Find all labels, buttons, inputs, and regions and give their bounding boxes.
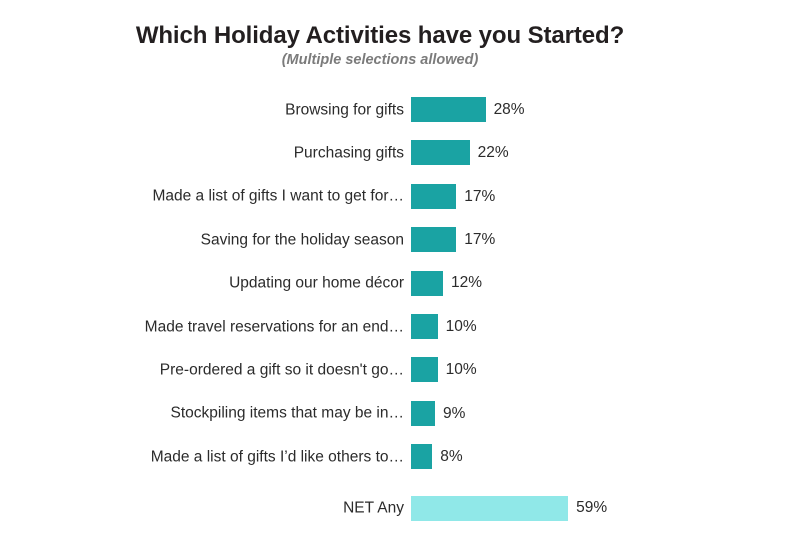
bar-value-label: 28% — [494, 102, 525, 118]
bar-value-label: 10% — [446, 319, 477, 335]
bar-track: 59% — [411, 496, 607, 521]
category-label: Made a list of gifts I’d like others to… — [151, 449, 404, 465]
bar-track: 17% — [411, 227, 495, 252]
bar-row: Stockpiling items that may be in…9% — [0, 401, 791, 426]
category-label: NET Any — [343, 500, 404, 516]
bar-track: 17% — [411, 184, 495, 209]
bar — [411, 314, 438, 339]
category-label: Purchasing gifts — [294, 145, 404, 161]
bar-row: Saving for the holiday season17% — [0, 227, 791, 252]
bar-value-label: 8% — [440, 449, 462, 465]
category-label: Made travel reservations for an end… — [145, 319, 404, 335]
bar-track: 28% — [411, 97, 525, 122]
bar-value-label: 10% — [446, 362, 477, 378]
category-label: Updating our home décor — [229, 275, 404, 291]
bar — [411, 184, 456, 209]
bar-track: 12% — [411, 271, 482, 296]
category-label: Stockpiling items that may be in… — [171, 406, 404, 422]
category-label: Browsing for gifts — [285, 102, 404, 118]
bar-value-label: 59% — [576, 500, 607, 516]
bar — [411, 496, 568, 521]
category-label: Saving for the holiday season — [201, 232, 404, 248]
bar-track: 22% — [411, 140, 509, 165]
bar-row: Updating our home décor12% — [0, 271, 791, 296]
chart-subtitle: (Multiple selections allowed) — [0, 52, 760, 68]
bar — [411, 271, 443, 296]
bar-value-label: 9% — [443, 406, 465, 422]
category-label: Pre-ordered a gift so it doesn't go… — [160, 362, 404, 378]
bar-row: Browsing for gifts28% — [0, 97, 791, 122]
bar — [411, 401, 435, 426]
bar — [411, 444, 432, 469]
bar-row: Made travel reservations for an end…10% — [0, 314, 791, 339]
bar — [411, 227, 456, 252]
bar — [411, 97, 486, 122]
bar-row: Pre-ordered a gift so it doesn't go…10% — [0, 357, 791, 382]
bar-value-label: 17% — [464, 232, 495, 248]
bar — [411, 357, 438, 382]
bar-track: 8% — [411, 444, 463, 469]
bar-value-label: 12% — [451, 275, 482, 291]
category-label: Made a list of gifts I want to get for… — [152, 189, 404, 205]
bar-chart: Which Holiday Activities have you Starte… — [0, 0, 791, 547]
bar-track: 10% — [411, 314, 477, 339]
bar-track: 9% — [411, 401, 465, 426]
chart-title: Which Holiday Activities have you Starte… — [0, 22, 760, 50]
bar-row: Made a list of gifts I’d like others to…… — [0, 444, 791, 469]
bar-value-label: 22% — [478, 145, 509, 161]
bar-row: Purchasing gifts22% — [0, 140, 791, 165]
bar-row: NET Any59% — [0, 496, 791, 521]
bar-track: 10% — [411, 357, 477, 382]
bar-value-label: 17% — [464, 189, 495, 205]
bar-row: Made a list of gifts I want to get for…1… — [0, 184, 791, 209]
bar — [411, 140, 470, 165]
